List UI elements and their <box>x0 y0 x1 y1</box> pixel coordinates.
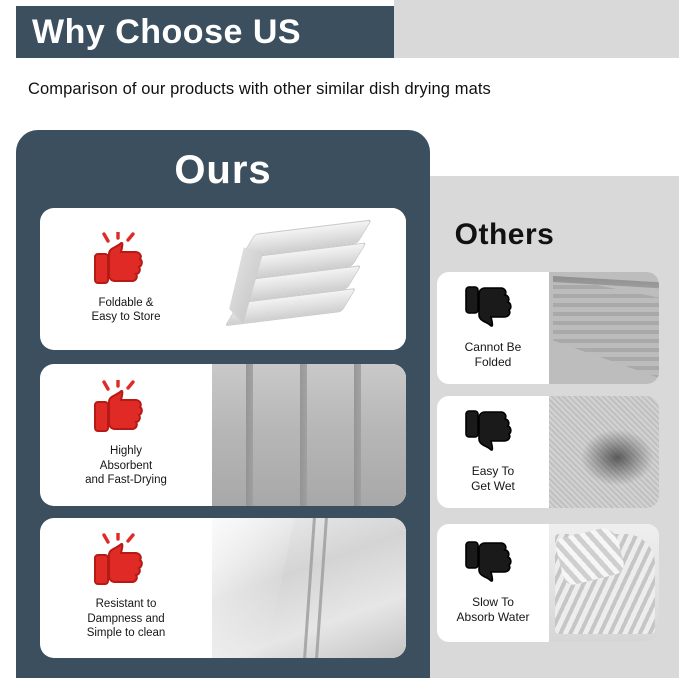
header-grey-accent <box>394 0 679 58</box>
dry-sheet-mat-image <box>212 518 406 658</box>
ours-card-label: Foldable &Easy to Store <box>91 296 160 325</box>
page-title: Why Choose US <box>16 15 301 49</box>
ours-card-absorbent: HighlyAbsorbentand Fast-Drying <box>40 364 406 506</box>
ours-card-label: Resistant toDampness andSimple to clean <box>87 597 166 640</box>
title-box: Why Choose US <box>16 6 394 58</box>
others-card-text-area: Easy ToGet Wet <box>437 396 549 508</box>
wet-mat-image <box>549 396 659 508</box>
folded-mat-image <box>212 208 406 350</box>
others-card-label: Slow ToAbsorb Water <box>457 595 530 625</box>
others-card-text-area: Cannot BeFolded <box>437 272 549 384</box>
thumbs-down-icon <box>463 409 523 459</box>
stiff-mat-image <box>549 272 659 384</box>
ours-heading: Ours <box>16 148 430 193</box>
thumbs-up-icon <box>91 380 161 438</box>
ours-card-foldable: Foldable &Easy to Store <box>40 208 406 350</box>
ours-card-text-area: Foldable &Easy to Store <box>40 208 212 350</box>
header-band: Why Choose US <box>0 0 679 62</box>
others-card-label: Cannot BeFolded <box>465 340 522 370</box>
thumbs-up-icon <box>91 533 161 591</box>
others-card-slow-absorb: Slow ToAbsorb Water <box>437 524 659 642</box>
others-card-label: Easy ToGet Wet <box>471 464 515 494</box>
thumbs-down-icon <box>463 285 523 335</box>
comparison-infographic: Why Choose US Comparison of our products… <box>0 0 679 678</box>
ours-card-text-area: HighlyAbsorbentand Fast-Drying <box>40 364 212 506</box>
coral-mat-image <box>549 524 659 642</box>
ours-card-label: HighlyAbsorbentand Fast-Drying <box>85 444 167 487</box>
others-card-cannot-fold: Cannot BeFolded <box>437 272 659 384</box>
others-card-text-area: Slow ToAbsorb Water <box>437 524 549 642</box>
ribbed-mat-image <box>212 364 406 506</box>
ours-card-text-area: Resistant toDampness andSimple to clean <box>40 518 212 658</box>
thumbs-up-icon <box>91 232 161 290</box>
page-subtitle: Comparison of our products with other si… <box>28 80 491 99</box>
thumbs-down-icon <box>463 540 523 590</box>
others-card-gets-wet: Easy ToGet Wet <box>437 396 659 508</box>
ours-card-resistant: Resistant toDampness andSimple to clean <box>40 518 406 658</box>
